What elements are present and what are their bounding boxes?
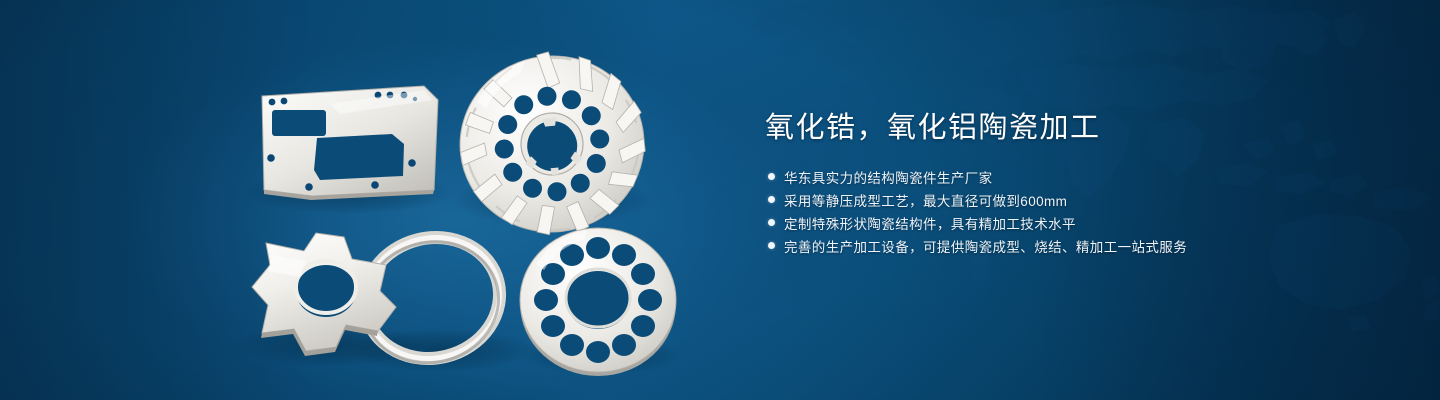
list-item: 定制特殊形状陶瓷结构件，具有精加工技术水平 — [765, 211, 1385, 234]
feature-list: 华东具实力的结构陶瓷件生产厂家 采用等静压成型工艺，最大直径可做到600mm 定… — [765, 165, 1385, 257]
list-item-label: 完善的生产加工设备，可提供陶瓷成型、烧结、精加工一站式服务 — [784, 236, 1187, 256]
list-item-label: 采用等静压成型工艺，最大直径可做到600mm — [784, 190, 1067, 210]
hero-banner: 氧化锆，氧化铝陶瓷加工 华东具实力的结构陶瓷件生产厂家 采用等静压成型工艺，最大… — [0, 0, 1440, 400]
bullet-dot-icon — [768, 196, 775, 203]
list-item-label: 华东具实力的结构陶瓷件生产厂家 — [784, 167, 993, 187]
page-title: 氧化锆，氧化铝陶瓷加工 — [765, 108, 1385, 148]
list-item-label: 定制特殊形状陶瓷结构件，具有精加工技术水平 — [784, 213, 1076, 233]
list-item: 完善的生产加工设备，可提供陶瓷成型、烧结、精加工一站式服务 — [765, 234, 1385, 257]
bullet-dot-icon — [768, 242, 775, 249]
bullet-dot-icon — [768, 219, 775, 226]
list-item: 采用等静压成型工艺，最大直径可做到600mm — [765, 188, 1385, 211]
bullet-dot-icon — [768, 173, 775, 180]
banner-copy: 氧化锆，氧化铝陶瓷加工 华东具实力的结构陶瓷件生产厂家 采用等静压成型工艺，最大… — [765, 108, 1385, 257]
list-item: 华东具实力的结构陶瓷件生产厂家 — [765, 165, 1385, 188]
